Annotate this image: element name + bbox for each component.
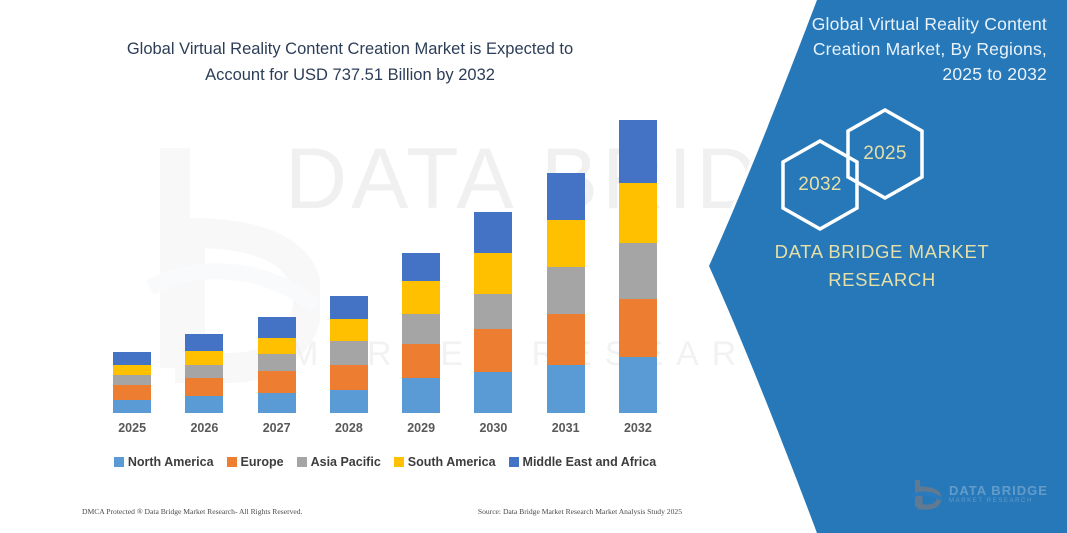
brand-name-line-1: DATA BRIDGE MARKET <box>717 238 1047 266</box>
right-panel: Global Virtual Reality Content Creation … <box>697 0 1067 533</box>
bar-segment <box>474 329 512 371</box>
bar-segment <box>547 314 585 365</box>
legend-swatch-icon <box>297 457 307 467</box>
page-title-line-1: Global Virtual Reality Content Creation … <box>60 36 640 62</box>
bar-segment <box>619 183 657 244</box>
legend-item-middle-east-and-africa[interactable]: Middle East and Africa <box>509 455 657 469</box>
bar-group <box>96 120 674 413</box>
bar-segment <box>258 371 296 393</box>
bar-segment <box>474 212 512 253</box>
footer-copyright: DMCA Protected ® Data Bridge Market Rese… <box>82 507 302 516</box>
company-logo: DATA BRIDGE MARKET RESEARCH <box>909 473 1049 515</box>
bar-2029 <box>402 253 440 413</box>
bar-2031 <box>547 173 585 413</box>
brand-name: DATA BRIDGE MARKET RESEARCH <box>717 238 1047 294</box>
x-axis-tick-2027: 2027 <box>258 421 296 435</box>
bar-segment <box>547 267 585 314</box>
bar-segment <box>113 352 151 364</box>
bar-segment <box>185 365 223 378</box>
bar-segment <box>402 344 440 377</box>
x-axis-tick-2028: 2028 <box>330 421 368 435</box>
chart-legend: North AmericaEuropeAsia PacificSouth Ame… <box>96 455 674 469</box>
bar-segment <box>330 341 368 364</box>
page-title-line-2: Account for USD 737.51 Billion by 2032 <box>60 62 640 88</box>
bar-2028 <box>330 296 368 413</box>
bar-segment <box>619 357 657 413</box>
bar-segment <box>547 365 585 413</box>
bar-segment <box>185 378 223 396</box>
x-axis-tick-2030: 2030 <box>474 421 512 435</box>
footer: DMCA Protected ® Data Bridge Market Rese… <box>82 507 682 516</box>
bar-segment <box>402 281 440 314</box>
stacked-bar-chart <box>96 120 674 413</box>
legend-swatch-icon <box>114 457 124 467</box>
bar-2030 <box>474 212 512 413</box>
bar-segment <box>330 296 368 319</box>
x-axis-tick-2031: 2031 <box>547 421 585 435</box>
bar-segment <box>185 334 223 351</box>
logo-wordmark-top: DATA BRIDGE <box>949 484 1048 498</box>
bar-segment <box>330 319 368 341</box>
panel-title-line-3: 2025 to 2032 <box>727 62 1047 87</box>
legend-item-north-america[interactable]: North America <box>114 455 214 469</box>
bar-segment <box>474 253 512 293</box>
x-axis-tick-2025: 2025 <box>113 421 151 435</box>
x-axis-tick-2026: 2026 <box>185 421 223 435</box>
legend-swatch-icon <box>227 457 237 467</box>
bar-segment <box>113 375 151 385</box>
legend-item-south-america[interactable]: South America <box>394 455 496 469</box>
x-axis-labels: 20252026202720282029203020312032 <box>96 421 674 435</box>
logo-wordmark-bottom: MARKET RESEARCH <box>949 498 1048 504</box>
bar-segment <box>619 299 657 358</box>
page-title: Global Virtual Reality Content Creation … <box>60 36 640 88</box>
bar-segment <box>258 338 296 354</box>
bar-segment <box>258 354 296 370</box>
legend-label: North America <box>128 455 214 469</box>
bridge-logo-glyph <box>909 477 943 511</box>
legend-swatch-icon <box>509 457 519 467</box>
bar-segment <box>402 253 440 280</box>
legend-label: Asia Pacific <box>311 455 381 469</box>
legend-item-asia-pacific[interactable]: Asia Pacific <box>297 455 381 469</box>
infographic-root: DATA BRIDGE MARKET RESEARCH Global Virtu… <box>0 0 1067 533</box>
hex-badge-2032-label: 2032 <box>777 137 863 233</box>
bar-segment <box>258 317 296 338</box>
bar-segment <box>258 393 296 413</box>
panel-title-line-2: Creation Market, By Regions, <box>727 37 1047 62</box>
legend-item-europe[interactable]: Europe <box>227 455 284 469</box>
panel-title: Global Virtual Reality Content Creation … <box>727 12 1047 87</box>
bar-segment <box>185 396 223 413</box>
bar-segment <box>547 173 585 220</box>
x-axis-tick-2032: 2032 <box>619 421 657 435</box>
bar-segment <box>547 220 585 266</box>
bar-segment <box>113 385 151 400</box>
legend-swatch-icon <box>394 457 404 467</box>
bar-2025 <box>113 352 151 413</box>
x-axis-tick-2029: 2029 <box>402 421 440 435</box>
bar-segment <box>330 390 368 413</box>
bar-segment <box>113 400 151 413</box>
bar-segment <box>619 120 657 183</box>
legend-label: Europe <box>241 455 284 469</box>
bar-segment <box>474 372 512 413</box>
bar-segment <box>113 365 151 375</box>
bar-segment <box>474 294 512 329</box>
bar-2032 <box>619 120 657 413</box>
legend-label: Middle East and Africa <box>523 455 657 469</box>
footer-source: Source: Data Bridge Market Research Mark… <box>478 507 682 516</box>
bar-segment <box>402 314 440 344</box>
bar-2026 <box>185 334 223 413</box>
bridge-logo-icon <box>909 477 943 511</box>
bar-2027 <box>258 317 296 413</box>
bar-segment <box>185 351 223 364</box>
legend-label: South America <box>408 455 496 469</box>
bar-segment <box>619 243 657 299</box>
brand-name-line-2: RESEARCH <box>717 266 1047 294</box>
hex-badge-2032: 2032 <box>777 137 863 233</box>
bar-segment <box>402 378 440 413</box>
panel-title-line-1: Global Virtual Reality Content <box>727 12 1047 37</box>
bar-segment <box>330 365 368 390</box>
